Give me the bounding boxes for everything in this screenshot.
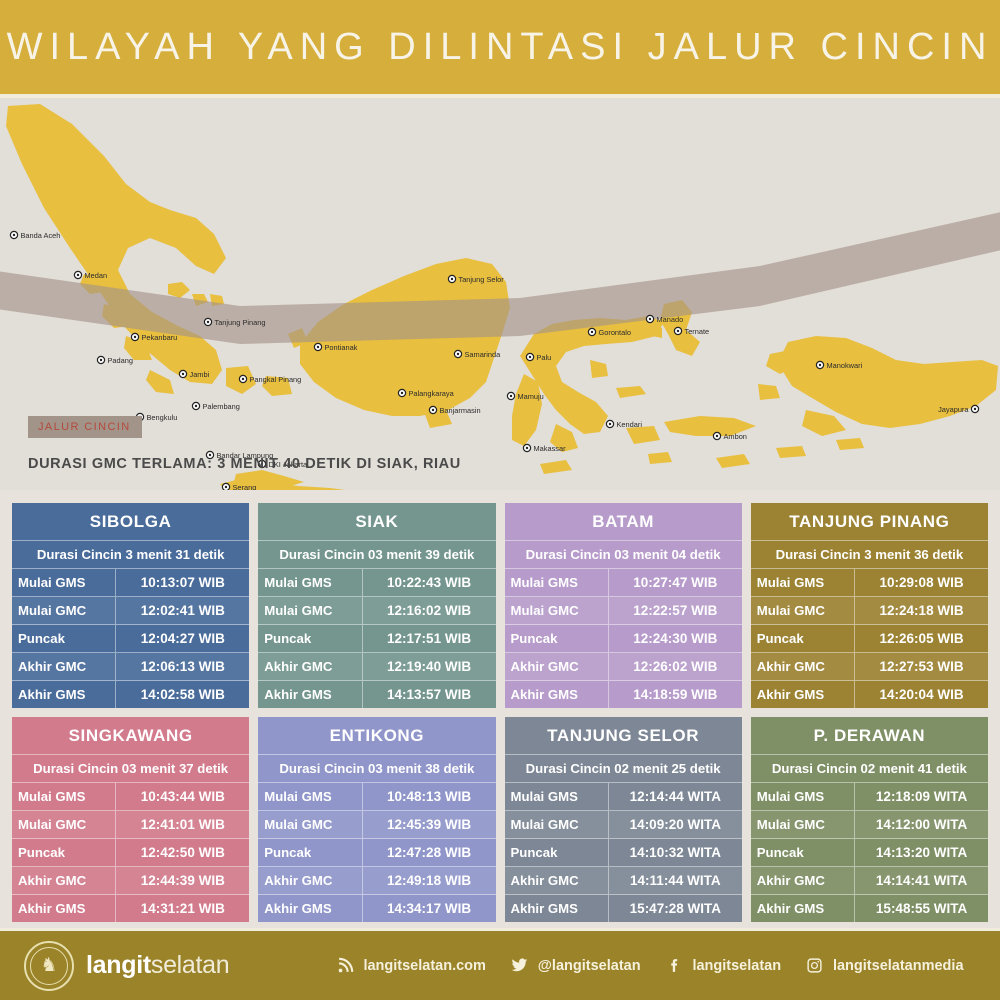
row-value: 14:34:17 WIB [363,895,496,922]
city-card: SIAKDurasi Cincin 03 menit 39 detikMulai… [258,503,495,708]
row-value: 12:18:09 WITA [855,783,988,810]
row-value: 15:47:28 WITA [609,895,742,922]
instagram-icon [806,957,824,975]
table-row: Akhir GMS14:20:04 WIB [751,681,988,708]
card-title: BATAM [505,503,742,541]
table-row: Mulai GMS12:14:44 WITA [505,783,742,811]
row-label: Akhir GMS [751,681,855,708]
row-value: 12:47:28 WIB [363,839,496,866]
table-row: Akhir GMS14:02:58 WIB [12,681,249,708]
row-label: Mulai GMS [505,569,609,596]
table-row: Akhir GMC14:11:44 WITA [505,867,742,895]
row-label: Mulai GMC [12,597,116,624]
facebook-icon [665,957,683,975]
row-label: Mulai GMC [258,811,362,838]
row-value: 12:24:30 WIB [609,625,742,652]
table-row: Puncak14:10:32 WITA [505,839,742,867]
rss-icon [336,957,354,975]
row-label: Akhir GMC [505,867,609,894]
card-duration: Durasi Cincin 3 menit 31 detik [12,541,249,569]
card-title: TANJUNG SELOR [505,717,742,755]
table-row: Mulai GMS10:48:13 WIB [258,783,495,811]
row-value: 12:22:57 WIB [609,597,742,624]
table-row: Akhir GMC12:27:53 WIB [751,653,988,681]
card-title: ENTIKONG [258,717,495,755]
row-value: 14:10:32 WITA [609,839,742,866]
row-value: 12:42:50 WIB [116,839,249,866]
row-value: 14:13:20 WITA [855,839,988,866]
row-label: Akhir GMC [751,867,855,894]
table-row: Puncak12:04:27 WIB [12,625,249,653]
row-value: 12:06:13 WIB [116,653,249,680]
table-row: Mulai GMC14:12:00 WITA [751,811,988,839]
table-row: Akhir GMC12:49:18 WIB [258,867,495,895]
row-value: 12:45:39 WIB [363,811,496,838]
card-title: P. DERAWAN [751,717,988,755]
row-label: Akhir GMC [258,653,362,680]
row-value: 10:13:07 WIB [116,569,249,596]
row-value: 12:26:02 WIB [609,653,742,680]
table-row: Akhir GMS14:18:59 WIB [505,681,742,708]
row-value: 12:26:05 WIB [855,625,988,652]
table-row: Puncak12:24:30 WIB [505,625,742,653]
table-row: Puncak14:13:20 WITA [751,839,988,867]
indonesia-map [0,98,1000,490]
table-row: Akhir GMC14:14:41 WITA [751,867,988,895]
row-label: Puncak [12,839,116,866]
langitselatan-logo-icon: ♞ [24,941,74,991]
row-value: 12:17:51 WIB [363,625,496,652]
row-value: 12:24:18 WIB [855,597,988,624]
row-label: Akhir GMS [751,895,855,922]
row-value: 15:48:55 WITA [855,895,988,922]
card-title: SINGKAWANG [12,717,249,755]
card-duration: Durasi Cincin 03 menit 37 detik [12,755,249,783]
row-value: 14:02:58 WIB [116,681,249,708]
city-card: ENTIKONGDurasi Cincin 03 menit 38 detikM… [258,717,495,922]
table-row: Mulai GMC12:45:39 WIB [258,811,495,839]
row-value: 12:16:02 WIB [363,597,496,624]
city-card: BATAMDurasi Cincin 03 menit 04 detikMula… [505,503,742,708]
page-title: WILAYAH YANG DILINTASI JALUR CINCIN [7,26,994,69]
title-bar: WILAYAH YANG DILINTASI JALUR CINCIN [0,0,1000,98]
row-label: Mulai GMC [505,811,609,838]
row-value: 14:31:21 WIB [116,895,249,922]
row-label: Puncak [258,625,362,652]
footer-bar: ♞ langitselatan langitselatan.com@langit… [0,928,1000,1000]
row-label: Puncak [505,839,609,866]
table-row: Mulai GMC12:24:18 WIB [751,597,988,625]
row-value: 12:49:18 WIB [363,867,496,894]
row-value: 14:20:04 WIB [855,681,988,708]
row-label: Akhir GMS [258,681,362,708]
table-row: Akhir GMS14:31:21 WIB [12,895,249,922]
table-row: Mulai GMC12:41:01 WIB [12,811,249,839]
row-value: 14:09:20 WITA [609,811,742,838]
brand-name-bold: langit [86,951,151,979]
table-row: Puncak12:47:28 WIB [258,839,495,867]
row-value: 12:04:27 WIB [116,625,249,652]
social-link-label: langitselatanmedia [833,958,964,974]
table-row: Mulai GMS12:18:09 WITA [751,783,988,811]
card-title: SIBOLGA [12,503,249,541]
row-label: Akhir GMC [12,867,116,894]
row-label: Mulai GMS [505,783,609,810]
map-panel: Banda AcehMedanTanjung PinangPekanbaruPa… [0,98,1000,490]
row-value: 14:14:41 WITA [855,867,988,894]
table-row: Mulai GMS10:27:47 WIB [505,569,742,597]
row-label: Akhir GMC [258,867,362,894]
row-label: Akhir GMC [12,653,116,680]
row-value: 12:19:40 WIB [363,653,496,680]
row-label: Mulai GMS [12,569,116,596]
row-label: Akhir GMS [505,681,609,708]
table-row: Akhir GMC12:26:02 WIB [505,653,742,681]
table-row: Mulai GMS10:22:43 WIB [258,569,495,597]
row-value: 10:27:47 WIB [609,569,742,596]
row-label: Mulai GMC [751,597,855,624]
row-value: 14:13:57 WIB [363,681,496,708]
table-row: Akhir GMS14:13:57 WIB [258,681,495,708]
social-link-instagram[interactable]: langitselatanmedia [806,957,964,975]
table-row: Akhir GMC12:19:40 WIB [258,653,495,681]
row-value: 12:41:01 WIB [116,811,249,838]
brand: ♞ langitselatan [24,941,324,991]
row-label: Puncak [258,839,362,866]
row-label: Akhir GMS [505,895,609,922]
city-card: SINGKAWANGDurasi Cincin 03 menit 37 deti… [12,717,249,922]
brand-name-light: selatan [151,951,230,979]
row-label: Mulai GMS [751,783,855,810]
city-card: TANJUNG PINANGDurasi Cincin 3 menit 36 d… [751,503,988,708]
social-link-facebook[interactable]: langitselatan [665,957,781,975]
row-label: Akhir GMC [505,653,609,680]
row-label: Akhir GMS [12,681,116,708]
table-row: Puncak12:42:50 WIB [12,839,249,867]
row-value: 10:48:13 WIB [363,783,496,810]
social-links: langitselatan.com@langitselatanlangitsel… [324,957,976,975]
row-value: 10:22:43 WIB [363,569,496,596]
row-label: Puncak [12,625,116,652]
table-row: Akhir GMC12:06:13 WIB [12,653,249,681]
row-label: Mulai GMS [258,783,362,810]
social-link-rss[interactable]: langitselatan.com [336,957,485,975]
card-duration: Durasi Cincin 02 menit 41 detik [751,755,988,783]
row-label: Mulai GMC [12,811,116,838]
row-label: Puncak [505,625,609,652]
card-duration: Durasi Cincin 03 menit 38 detik [258,755,495,783]
table-row: Mulai GMC12:02:41 WIB [12,597,249,625]
row-value: 12:44:39 WIB [116,867,249,894]
row-label: Mulai GMS [258,569,362,596]
row-value: 14:11:44 WITA [609,867,742,894]
social-link-twitter[interactable]: @langitselatan [511,957,641,975]
map-caption: DURASI GMC TERLAMA: 3 MENIT 40 DETIK DI … [28,456,461,472]
social-link-label: langitselatan [692,958,781,974]
infographic-page: WILAYAH YANG DILINTASI JALUR CINCIN [0,0,1000,1000]
table-row: Akhir GMS15:47:28 WITA [505,895,742,922]
legend-label: JALUR CINCIN [38,421,131,433]
legend-jalur-cincin: JALUR CINCIN [28,416,142,438]
card-title: SIAK [258,503,495,541]
table-row: Akhir GMS14:34:17 WIB [258,895,495,922]
twitter-icon [511,957,529,975]
table-row: Mulai GMC14:09:20 WITA [505,811,742,839]
card-duration: Durasi Cincin 03 menit 39 detik [258,541,495,569]
card-duration: Durasi Cincin 02 menit 25 detik [505,755,742,783]
row-label: Mulai GMC [258,597,362,624]
table-row: Akhir GMC12:44:39 WIB [12,867,249,895]
row-value: 12:27:53 WIB [855,653,988,680]
row-label: Akhir GMS [258,895,362,922]
row-value: 14:12:00 WITA [855,811,988,838]
row-label: Mulai GMC [505,597,609,624]
table-row: Akhir GMS15:48:55 WITA [751,895,988,922]
table-row: Puncak12:17:51 WIB [258,625,495,653]
row-label: Puncak [751,625,855,652]
social-link-label: langitselatan.com [363,958,485,974]
table-row: Mulai GMS10:29:08 WIB [751,569,988,597]
row-value: 12:14:44 WITA [609,783,742,810]
row-value: 14:18:59 WIB [609,681,742,708]
row-label: Mulai GMC [751,811,855,838]
row-label: Puncak [751,839,855,866]
city-card: P. DERAWANDurasi Cincin 02 menit 41 deti… [751,717,988,922]
row-label: Mulai GMS [751,569,855,596]
city-card: TANJUNG SELORDurasi Cincin 02 menit 25 d… [505,717,742,922]
table-row: Puncak12:26:05 WIB [751,625,988,653]
table-row: Mulai GMC12:16:02 WIB [258,597,495,625]
table-row: Mulai GMC12:22:57 WIB [505,597,742,625]
row-value: 12:02:41 WIB [116,597,249,624]
row-value: 10:43:44 WIB [116,783,249,810]
social-link-label: @langitselatan [538,958,641,974]
city-timing-cards: SIBOLGADurasi Cincin 3 menit 31 detikMul… [0,490,1000,928]
card-title: TANJUNG PINANG [751,503,988,541]
card-duration: Durasi Cincin 03 menit 04 detik [505,541,742,569]
brand-name: langitselatan [86,951,229,980]
row-label: Mulai GMS [12,783,116,810]
card-duration: Durasi Cincin 3 menit 36 detik [751,541,988,569]
row-value: 10:29:08 WIB [855,569,988,596]
table-row: Mulai GMS10:43:44 WIB [12,783,249,811]
row-label: Akhir GMC [751,653,855,680]
city-card: SIBOLGADurasi Cincin 3 menit 31 detikMul… [12,503,249,708]
row-label: Akhir GMS [12,895,116,922]
table-row: Mulai GMS10:13:07 WIB [12,569,249,597]
